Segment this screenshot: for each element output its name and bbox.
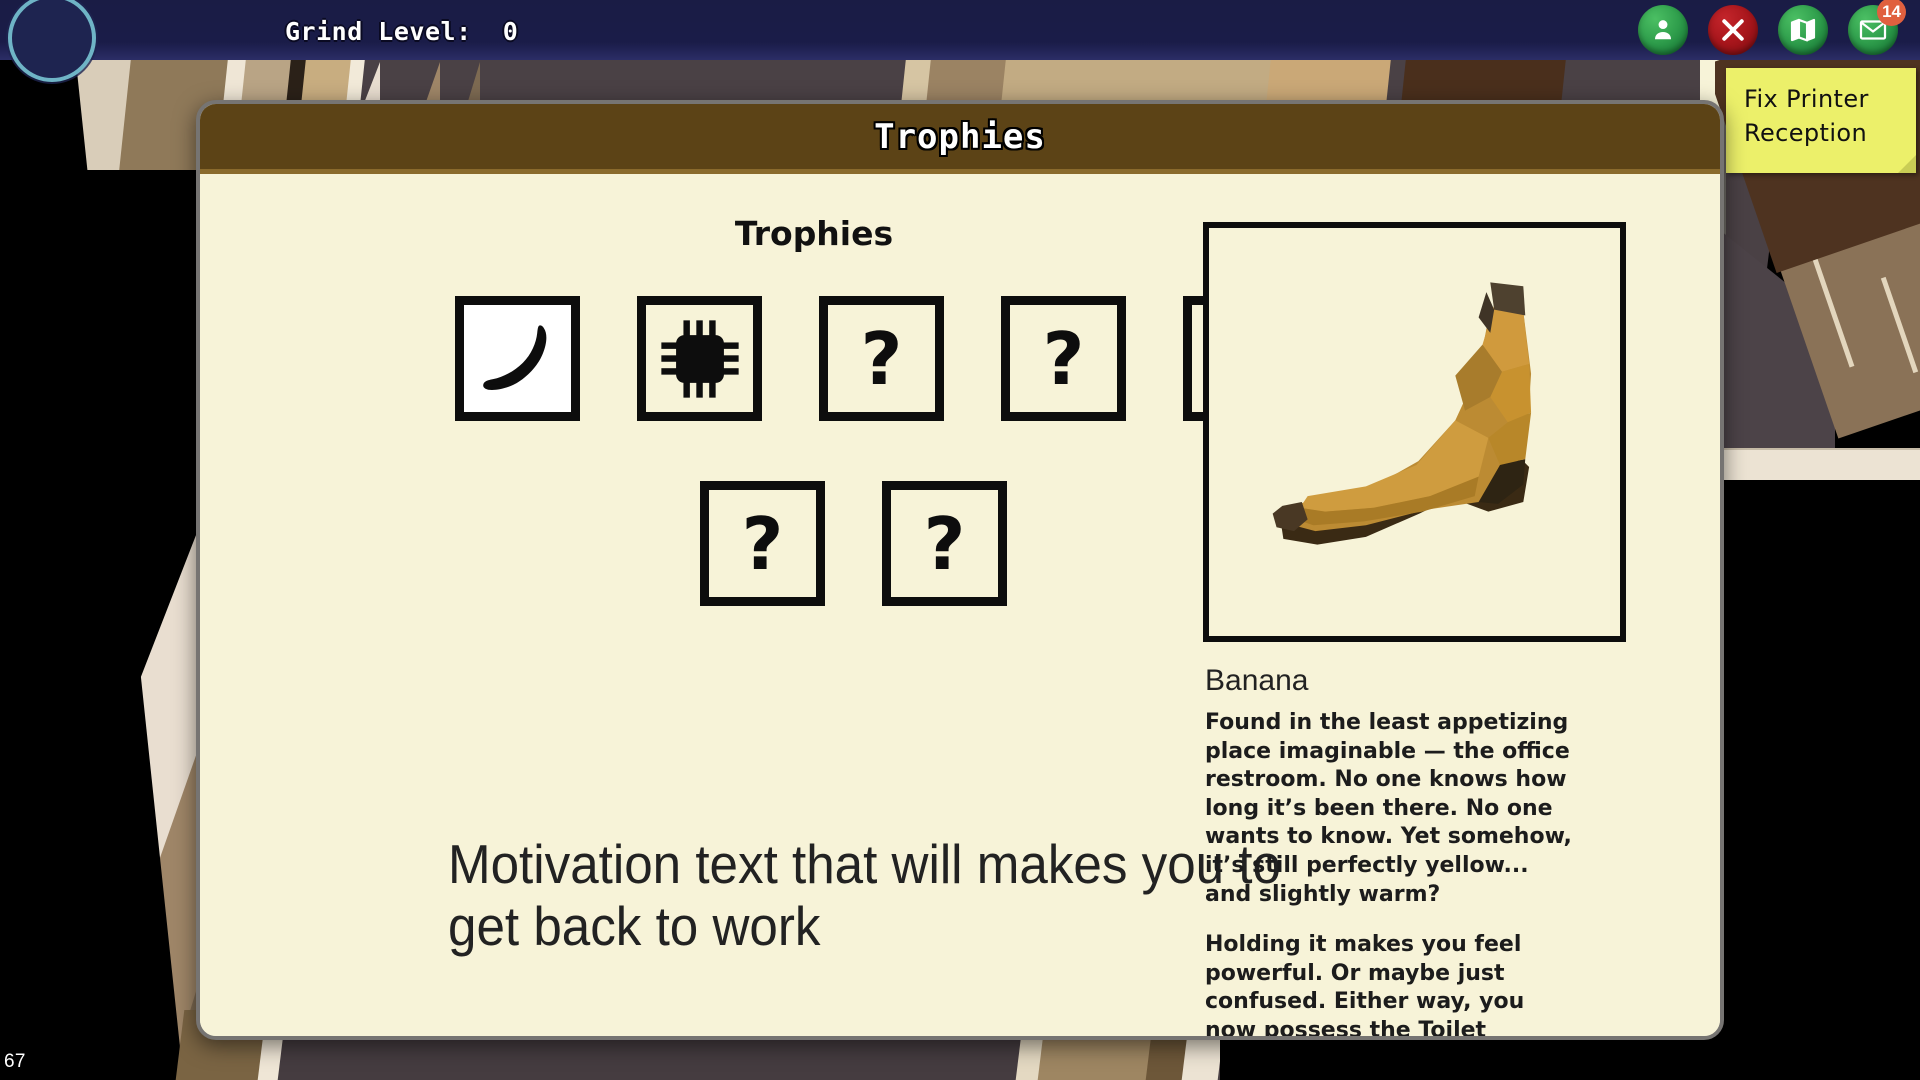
sticky-note-line-2: Reception — [1744, 116, 1904, 150]
modal-title-bar: Trophies — [200, 104, 1720, 174]
trophy-tile-locked-1[interactable]: ? — [819, 296, 944, 421]
trophies-section-heading: Trophies — [735, 214, 893, 253]
hud-icon-group: 14 — [1638, 5, 1898, 55]
close-x-icon — [1719, 16, 1747, 44]
mail-unread-badge: 14 — [1877, 0, 1906, 26]
trophies-modal: Trophies Trophies — [196, 100, 1724, 1040]
trophies-panel: Trophies — [200, 174, 1200, 1039]
trophy-detail-panel: Banana Found in the least appetizing pla… — [1203, 174, 1724, 1039]
mail-button[interactable]: 14 — [1848, 5, 1898, 55]
trophy-item-description: Found in the least appetizing place imag… — [1205, 709, 1575, 1040]
sticky-note-line-1: Fix Printer — [1744, 82, 1904, 116]
banana-icon — [470, 311, 566, 407]
modal-title: Trophies — [874, 117, 1046, 157]
question-icon: ? — [924, 508, 966, 580]
modal-body: Trophies — [200, 174, 1720, 1039]
trophy-tile-locked-5[interactable]: ? — [882, 481, 1007, 606]
motivation-text: Motivation text that will makes you to g… — [448, 834, 1304, 957]
grind-level-label: Grind Level: 0 — [285, 17, 518, 46]
trophy-tile-banana[interactable] — [455, 296, 580, 421]
question-icon: ? — [1043, 323, 1085, 395]
cpu-chip-icon — [654, 313, 746, 405]
scene-void-right — [1715, 480, 1920, 1080]
top-hud-bar: Grind Level: 0 — [0, 0, 1920, 60]
trophy-preview-frame — [1203, 222, 1626, 642]
trophy-tile-cpu-chip[interactable] — [637, 296, 762, 421]
banana-3d-render-icon — [1209, 228, 1620, 636]
sticky-note-fold — [1898, 155, 1916, 173]
description-paragraph-1: Found in the least appetizing place imag… — [1205, 709, 1575, 909]
baseboard — [1715, 448, 1920, 480]
sticky-note-task[interactable]: Fix Printer Reception — [1726, 68, 1916, 173]
trophy-tile-locked-4[interactable]: ? — [700, 481, 825, 606]
trophy-item-name: Banana — [1205, 664, 1308, 698]
map-button[interactable] — [1778, 5, 1828, 55]
office-right-scene — [1715, 60, 1920, 1080]
game-screen: 67 Grind Level: 0 — [0, 0, 1920, 1080]
person-icon — [1650, 17, 1676, 43]
map-icon — [1789, 16, 1817, 44]
fps-counter: 67 — [4, 1051, 26, 1073]
trophy-tile-locked-2[interactable]: ? — [1001, 296, 1126, 421]
question-icon: ? — [742, 508, 784, 580]
description-paragraph-2: Holding it makes you feel powerful. Or m… — [1205, 931, 1575, 1040]
question-icon: ? — [861, 323, 903, 395]
close-button[interactable] — [1708, 5, 1758, 55]
profile-button[interactable] — [1638, 5, 1688, 55]
scene-void-left — [0, 62, 190, 1080]
